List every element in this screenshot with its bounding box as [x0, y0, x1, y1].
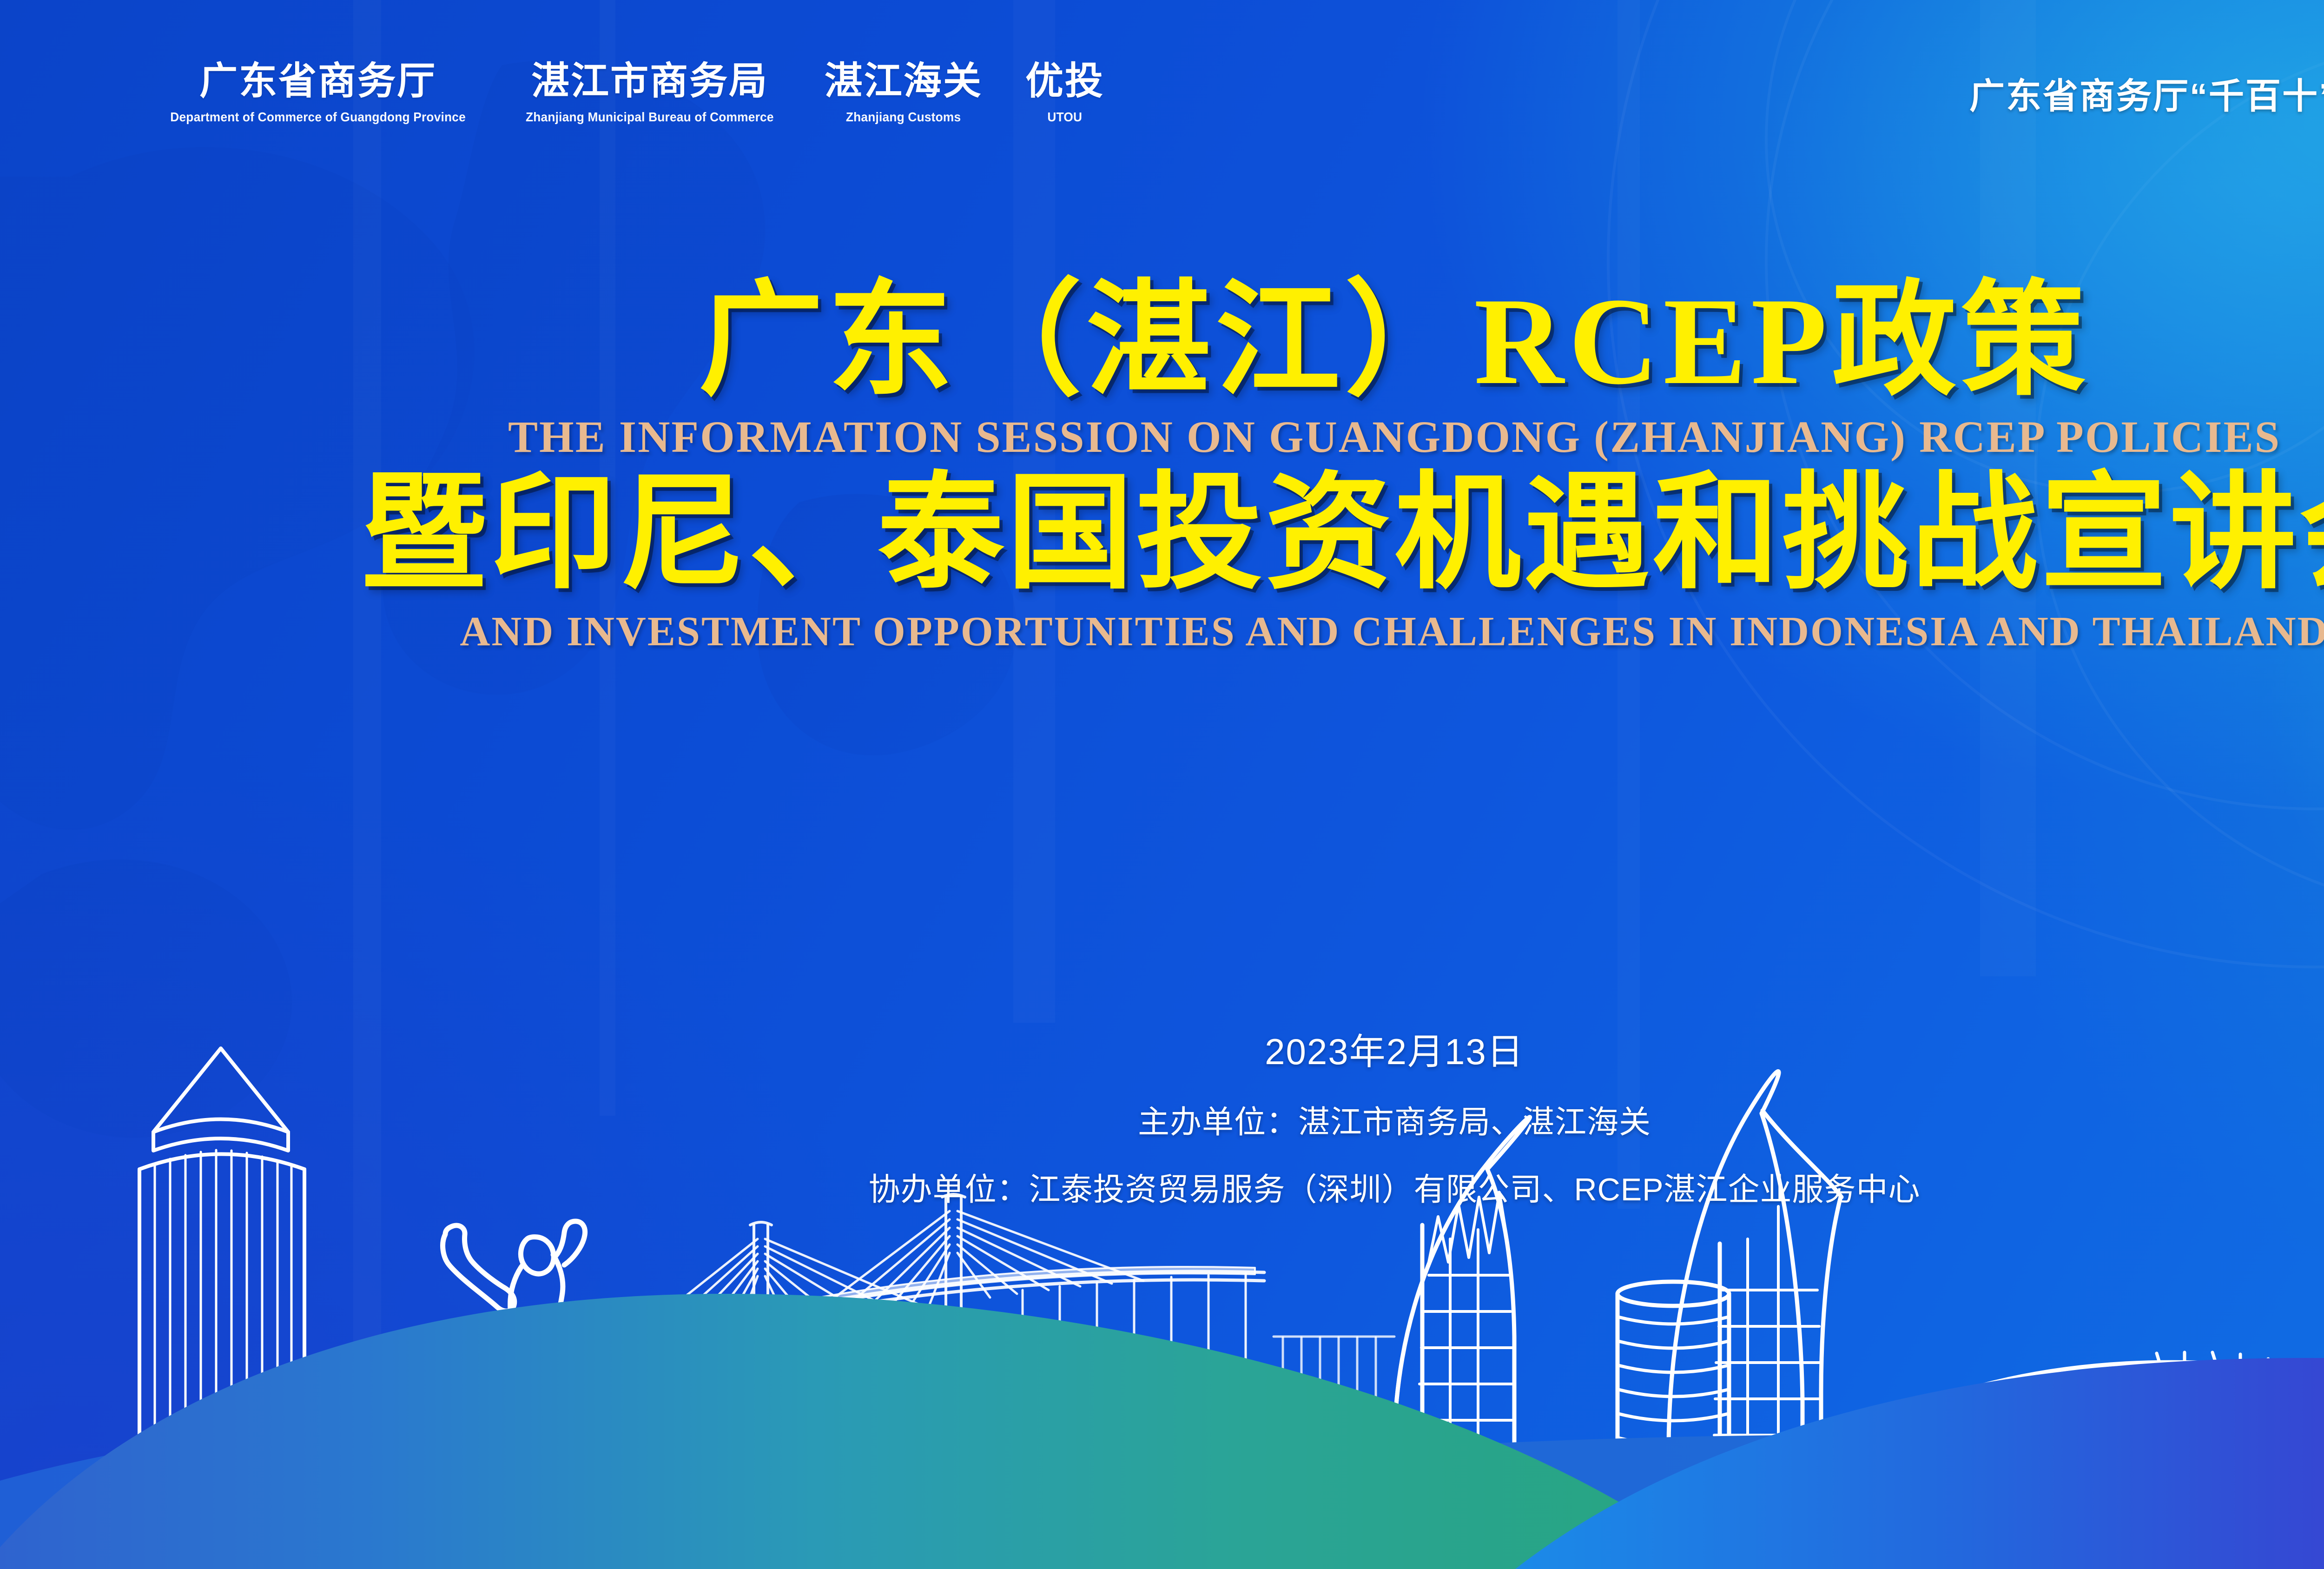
logo-en-name: UTOU [1048, 110, 1083, 125]
event-info: 2023年2月13日 主办单位：湛江市商务局、湛江海关 协办单位：江泰投资贸易服… [0, 1023, 2324, 1210]
logo-zhanjiang-commerce: 湛江市商务局 Zhanjiang Municipal Bureau of Com… [496, 61, 803, 125]
logo-cn-name: 湛江市商务局 [531, 61, 768, 101]
hill-back [0, 1422, 2324, 1569]
logo-cn-name: 湛江海关 [825, 61, 983, 101]
hill-purple [1515, 1358, 2324, 1569]
event-date: 2023年2月13日 [0, 1023, 2324, 1075]
logo-guangdong-commerce: 广东省商务厅 Department of Commerce of Guangdo… [139, 61, 496, 125]
poster-root: 广东省商务厅 Department of Commerce of Guangdo… [0, 0, 2324, 1569]
english-subtitle-line2: AND INVESTMENT OPPORTUNITIES AND CHALLEN… [0, 608, 2324, 655]
background-buildings [1274, 1337, 2324, 1457]
logo-en-name: Department of Commerce of Guangdong Prov… [170, 110, 466, 125]
cylindrical-tower [1618, 1282, 1729, 1448]
logo-utou: 优投 UTOU [1004, 61, 1126, 125]
header: 广东省商务厅 Department of Commerce of Guangdo… [0, 0, 2324, 186]
title-block: 广东（湛江）RCEP政策 THE INFORMATION SESSION ON … [0, 279, 2324, 655]
logo-en-name: Zhanjiang Customs [846, 110, 961, 125]
event-co-organizer: 协办单位：江泰投资贸易服务（深圳）有限公司、RCEP湛江企业服务中心 [0, 1164, 2324, 1210]
main-title-line2: 暨印尼、泰国投资机遇和挑战宣讲会 [0, 471, 2324, 597]
logo-zhanjiang-customs: 湛江海关 Zhanjiang Customs [803, 61, 1004, 125]
logo-group: 广东省商务厅 Department of Commerce of Guangdo… [139, 61, 1126, 125]
logo-cn-name: 优投 [1025, 61, 1104, 101]
city-skyline-illustration [0, 872, 2324, 1569]
header-tagline: 广东省商务厅“千百十”综合服务项目系列培训 [1969, 67, 2324, 119]
logo-cn-name: 广东省商务厅 [199, 61, 436, 101]
english-subtitle-line1: THE INFORMATION SESSION ON GUANGDONG (ZH… [0, 411, 2324, 463]
hill-teal [0, 1294, 1720, 1569]
logo-en-name: Zhanjiang Municipal Bureau of Commerce [526, 110, 774, 125]
background-decoration [0, 0, 2324, 1569]
cable-stayed-bridge [576, 1194, 1264, 1448]
stadium-arch [1811, 1352, 2324, 1547]
event-organizer: 主办单位：湛江市商务局、湛江海关 [0, 1096, 2324, 1142]
main-title-line1: 广东（湛江）RCEP政策 [0, 279, 2324, 404]
statue-figure [443, 1221, 585, 1476]
